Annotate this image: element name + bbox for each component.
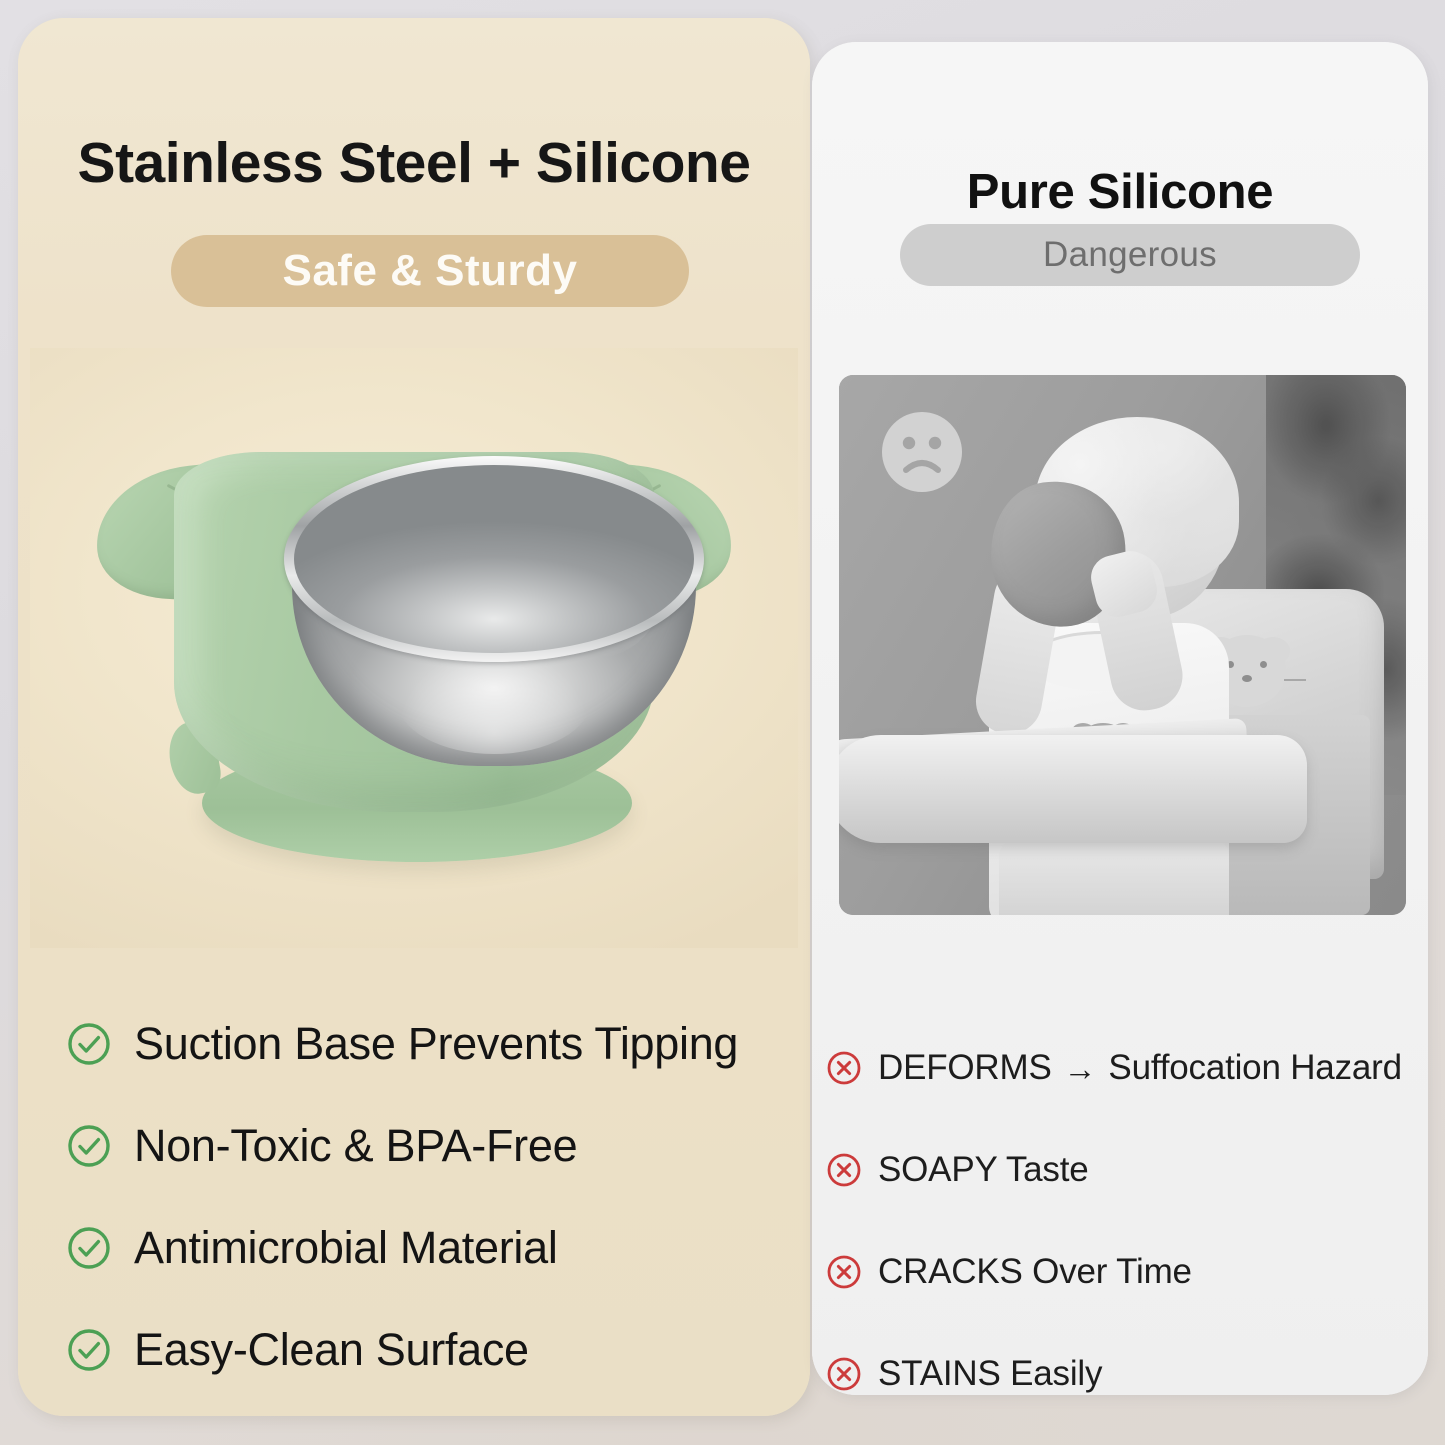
check-circle-icon	[66, 1021, 112, 1067]
sad-face-icon	[881, 411, 963, 493]
infographic-canvas: Stainless Steel + Silicone Safe & Sturdy	[0, 0, 1445, 1445]
list-item-label: SOAPY Taste	[878, 1150, 1089, 1190]
cross-circle-icon	[826, 1152, 862, 1188]
list-item-label: CRACKS Over Time	[878, 1252, 1192, 1292]
right-panel-title: Pure Silicone	[812, 164, 1428, 220]
list-item: Easy-Clean Surface	[66, 1299, 786, 1401]
list-item: Non-Toxic & BPA-Free	[66, 1095, 786, 1197]
lifestyle-photo	[839, 375, 1406, 915]
drawback-cause: DEFORMS	[878, 1048, 1052, 1088]
list-item-label: Non-Toxic & BPA-Free	[134, 1120, 577, 1172]
check-circle-icon	[66, 1327, 112, 1373]
bowl-rim-inner-shadow	[294, 465, 694, 653]
list-item: Suction Base Prevents Tipping	[66, 993, 786, 1095]
steel-highlight	[397, 646, 591, 754]
feature-list: Suction Base Prevents Tipping Non-Toxic …	[66, 993, 786, 1401]
dangerous-badge: Dangerous	[900, 224, 1360, 286]
cat-eye	[1260, 661, 1267, 668]
photo-toddler-lap	[999, 837, 1229, 915]
check-circle-icon	[66, 1123, 112, 1169]
list-item: DEFORMS → Suffocation Hazard	[826, 1017, 1420, 1119]
cat-nose	[1242, 675, 1252, 682]
cross-circle-icon	[826, 1254, 862, 1290]
safe-sturdy-badge: Safe & Sturdy	[171, 235, 689, 307]
dangerous-badge-label: Dangerous	[1043, 235, 1217, 275]
drawback-list: DEFORMS → Suffocation Hazard SOAPY Taste	[826, 1017, 1420, 1395]
arrow-right-icon: →	[1064, 1052, 1097, 1085]
list-item-label: Easy-Clean Surface	[134, 1324, 529, 1376]
left-comparison-card: Stainless Steel + Silicone Safe & Sturdy	[18, 18, 810, 1416]
list-item-label: STAINS Easily	[878, 1354, 1102, 1394]
list-item: STAINS Easily	[826, 1323, 1420, 1395]
cat-whisker	[1284, 679, 1306, 681]
right-comparison-card: Pure Silicone Dangerous	[812, 42, 1428, 1395]
photo-highchair-tray	[839, 735, 1307, 843]
bowl-steel-rim	[284, 456, 704, 662]
list-item-label: Antimicrobial Material	[134, 1222, 558, 1274]
bowl-illustration	[94, 392, 734, 912]
cross-circle-icon	[826, 1356, 862, 1392]
list-item-label: DEFORMS → Suffocation Hazard	[878, 1048, 1402, 1088]
cross-circle-icon	[826, 1050, 862, 1086]
list-item: CRACKS Over Time	[826, 1221, 1420, 1323]
safe-sturdy-badge-label: Safe & Sturdy	[282, 246, 577, 296]
list-item: SOAPY Taste	[826, 1119, 1420, 1221]
check-circle-icon	[66, 1225, 112, 1271]
drawback-effect: Suffocation Hazard	[1108, 1048, 1401, 1088]
bowl-silicone-body	[174, 452, 654, 812]
product-bowl-image	[30, 348, 798, 948]
left-panel-title: Stainless Steel + Silicone	[18, 130, 810, 196]
list-item: Antimicrobial Material	[66, 1197, 786, 1299]
list-item-label: Suction Base Prevents Tipping	[134, 1018, 738, 1070]
